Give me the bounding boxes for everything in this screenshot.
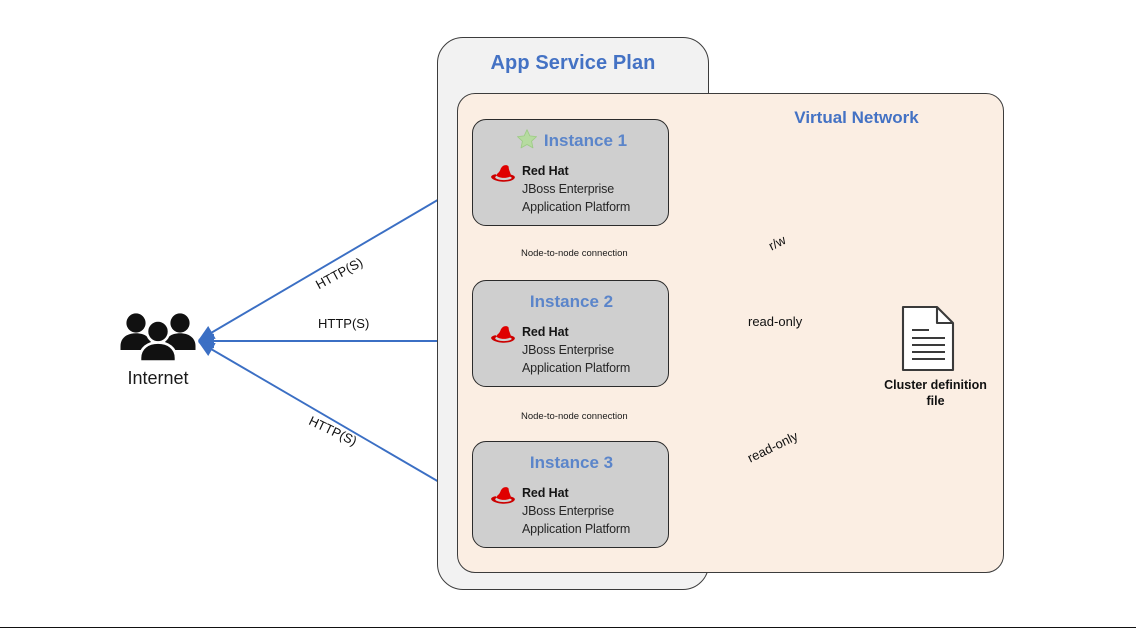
product-line-2: Application Platform bbox=[522, 361, 630, 375]
instance-1-header: Instance 1 bbox=[473, 128, 670, 154]
app-service-plan-title: App Service Plan bbox=[437, 52, 709, 75]
instance-3-product: Red Hat JBoss Enterprise Application Pla… bbox=[490, 484, 630, 538]
instance-3-title: Instance 3 bbox=[530, 453, 613, 473]
product-name: Red Hat bbox=[522, 486, 569, 500]
star-icon bbox=[516, 128, 538, 155]
cluster-definition-file-label: Cluster definition file bbox=[858, 378, 1013, 409]
instance-card-3[interactable]: Instance 3 Red Hat JBoss Enterprise Appl… bbox=[472, 441, 669, 548]
instance-card-2[interactable]: Instance 2 Red Hat JBoss Enterprise Appl… bbox=[472, 280, 669, 387]
instance-2-title: Instance 2 bbox=[530, 292, 613, 312]
internet-label: Internet bbox=[88, 368, 228, 389]
product-line-1: JBoss Enterprise bbox=[522, 504, 614, 518]
instance-3-header: Instance 3 bbox=[473, 450, 670, 476]
instance-2-header: Instance 2 bbox=[473, 289, 670, 315]
edge-label-read-only-instance-2: read-only bbox=[748, 314, 802, 329]
instance-card-1[interactable]: Instance 1 Red Hat JBoss Enterprise Appl… bbox=[472, 119, 669, 226]
red-hat-logo-icon bbox=[490, 486, 516, 510]
node-to-node-label-1: Node-to-node connection bbox=[521, 248, 628, 259]
document-icon bbox=[901, 305, 955, 377]
red-hat-logo-icon bbox=[490, 164, 516, 188]
red-hat-logo-icon bbox=[490, 325, 516, 349]
edge-internet-instance-3 bbox=[199, 342, 470, 500]
node-to-node-label-2: Node-to-node connection bbox=[521, 411, 628, 422]
edge-label-https-instance-2: HTTP(S) bbox=[318, 316, 369, 331]
cluster-label-line-1: Cluster definition bbox=[884, 378, 987, 392]
instance-3-product-text: Red Hat JBoss Enterprise Application Pla… bbox=[522, 484, 630, 538]
product-line-1: JBoss Enterprise bbox=[522, 343, 614, 357]
instance-1-product-text: Red Hat JBoss Enterprise Application Pla… bbox=[522, 162, 630, 216]
users-icon bbox=[119, 310, 197, 367]
instance-2-product: Red Hat JBoss Enterprise Application Pla… bbox=[490, 323, 630, 377]
product-name: Red Hat bbox=[522, 325, 569, 339]
virtual-network-title: Virtual Network bbox=[709, 108, 1004, 128]
bottom-divider bbox=[0, 627, 1136, 628]
cluster-label-line-2: file bbox=[926, 394, 944, 408]
product-line-2: Application Platform bbox=[522, 200, 630, 214]
instance-1-title: Instance 1 bbox=[544, 131, 627, 151]
product-line-1: JBoss Enterprise bbox=[522, 182, 614, 196]
instance-1-product: Red Hat JBoss Enterprise Application Pla… bbox=[490, 162, 630, 216]
instance-2-product-text: Red Hat JBoss Enterprise Application Pla… bbox=[522, 323, 630, 377]
product-name: Red Hat bbox=[522, 164, 569, 178]
product-line-2: Application Platform bbox=[522, 522, 630, 536]
